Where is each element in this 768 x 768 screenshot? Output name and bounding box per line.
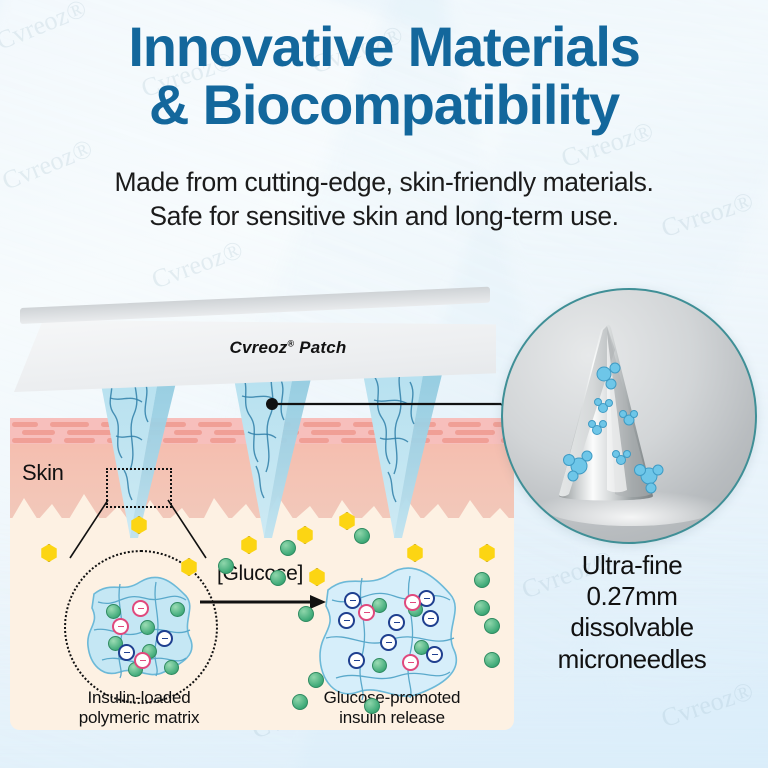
- caption-line-3: dissolvable: [508, 612, 756, 643]
- minus-charge-icon: [424, 598, 430, 600]
- insulin-molecule: [140, 620, 155, 635]
- charge-site: [426, 646, 443, 663]
- insulin-molecule-icon: [308, 672, 324, 688]
- minus-charge-icon: [138, 608, 144, 610]
- insulin-molecule-icon: [474, 572, 490, 588]
- insulin-molecule-icon: [364, 698, 380, 714]
- insulin-molecule: [106, 604, 121, 619]
- charge-site: [132, 600, 149, 617]
- page-subtitle: Made from cutting-edge, skin-friendly ma…: [0, 166, 768, 234]
- insulin-matrix-label: Insulin-loaded polymeric matrix: [46, 688, 232, 728]
- glucose-molecule-icon: [240, 536, 256, 552]
- insulin-molecule: [170, 602, 185, 617]
- charge-site: [380, 634, 397, 651]
- insulin-molecule-icon: [484, 652, 500, 668]
- minus-charge-icon: [364, 612, 370, 614]
- glucose-release-label: Glucose-promoted insulin release: [292, 688, 492, 728]
- minus-charge-icon: [118, 626, 124, 628]
- charge-site: [118, 644, 135, 661]
- charge-site: [344, 592, 361, 609]
- charge-site: [156, 630, 173, 647]
- minus-charge-icon: [408, 662, 414, 664]
- charge-site: [348, 652, 365, 669]
- infographic-canvas: Cvreoz®Cvreoz®Cvreoz®Cvreoz®Cvreoz®Cvreo…: [0, 0, 768, 768]
- insulin-molecule: [372, 658, 387, 673]
- skin-label: Skin: [22, 460, 64, 486]
- minus-charge-icon: [162, 638, 168, 640]
- insulin-molecule-icon: [474, 600, 490, 616]
- insulin-matrix-label-line1: Insulin-loaded: [87, 688, 190, 707]
- patch-label: Cvreoz® Patch: [158, 338, 418, 358]
- drug-molecule-cluster-group: [503, 290, 757, 544]
- insulin-molecule-icon: [280, 540, 296, 556]
- charge-site: [422, 610, 439, 627]
- microneedle-closeup-inset: [501, 288, 757, 544]
- caption-line-1: Ultra-fine: [508, 550, 756, 581]
- insulin-molecule: [164, 660, 179, 675]
- glucose-molecule-icon: [180, 558, 196, 574]
- minus-charge-icon: [428, 618, 434, 620]
- corneum-cell: [198, 422, 232, 427]
- insulin-molecule-icon: [218, 558, 234, 574]
- glucose-molecule-icon: [296, 526, 312, 542]
- headline-line-1: Innovative Materials: [128, 15, 639, 78]
- insulin-molecule-icon: [354, 528, 370, 544]
- patch-label-suffix: Patch: [294, 338, 346, 357]
- page-title: Innovative Materials & Biocompatibility: [0, 18, 768, 134]
- corneum-cell: [64, 438, 95, 443]
- charge-site: [402, 654, 419, 671]
- insulin-molecule-icon: [484, 618, 500, 634]
- glucose-molecule-icon: [130, 516, 146, 532]
- insulin-molecule-icon: [270, 570, 286, 586]
- microneedle-skin-diagram: Cvreoz® Patch Skin I: [8, 300, 514, 730]
- headline-line-2: & Biocompatibility: [0, 76, 768, 134]
- subhead-line-2: Safe for sensitive skin and long-term us…: [0, 200, 768, 234]
- minus-charge-icon: [386, 642, 392, 644]
- glucose-molecule-icon: [406, 544, 422, 560]
- minus-charge-icon: [394, 622, 400, 624]
- charge-site: [338, 612, 355, 629]
- glucose-molecule-icon: [338, 512, 354, 528]
- glucose-release-label-line1: Glucose-promoted: [324, 688, 461, 707]
- charge-site: [388, 614, 405, 631]
- charge-site: [404, 594, 421, 611]
- charge-site: [358, 604, 375, 621]
- inset-caption: Ultra-fine 0.27mm dissolvable microneedl…: [508, 550, 756, 675]
- charge-site: [112, 618, 129, 635]
- minus-charge-icon: [124, 652, 130, 654]
- corneum-cell: [12, 438, 52, 443]
- insulin-matrix-label-line2: polymeric matrix: [79, 708, 200, 727]
- inset-circle: [501, 288, 757, 544]
- glucose-release-label-line2: insulin release: [339, 708, 445, 727]
- corneum-cell: [12, 422, 38, 427]
- glucose-molecule-icon: [308, 568, 324, 584]
- caption-line-4: microneedles: [508, 644, 756, 675]
- minus-charge-icon: [140, 660, 146, 662]
- minus-charge-icon: [350, 600, 356, 602]
- minus-charge-icon: [410, 602, 416, 604]
- corneum-cell: [22, 430, 55, 435]
- minus-charge-icon: [354, 660, 360, 662]
- insulin-molecule-icon: [292, 694, 308, 710]
- insulin-molecule-icon: [298, 606, 314, 622]
- minus-charge-icon: [344, 620, 350, 622]
- insulin-loaded-matrix: [82, 568, 198, 689]
- caption-line-2: 0.27mm: [508, 581, 756, 612]
- glucose-molecule-icon: [40, 544, 56, 560]
- minus-charge-icon: [432, 654, 438, 656]
- subhead-line-1: Made from cutting-edge, skin-friendly ma…: [115, 167, 654, 197]
- corneum-cell: [50, 422, 89, 427]
- patch-brand-name: Cvreoz: [230, 338, 288, 357]
- glucose-molecule-icon: [478, 544, 494, 560]
- charge-site: [134, 652, 151, 669]
